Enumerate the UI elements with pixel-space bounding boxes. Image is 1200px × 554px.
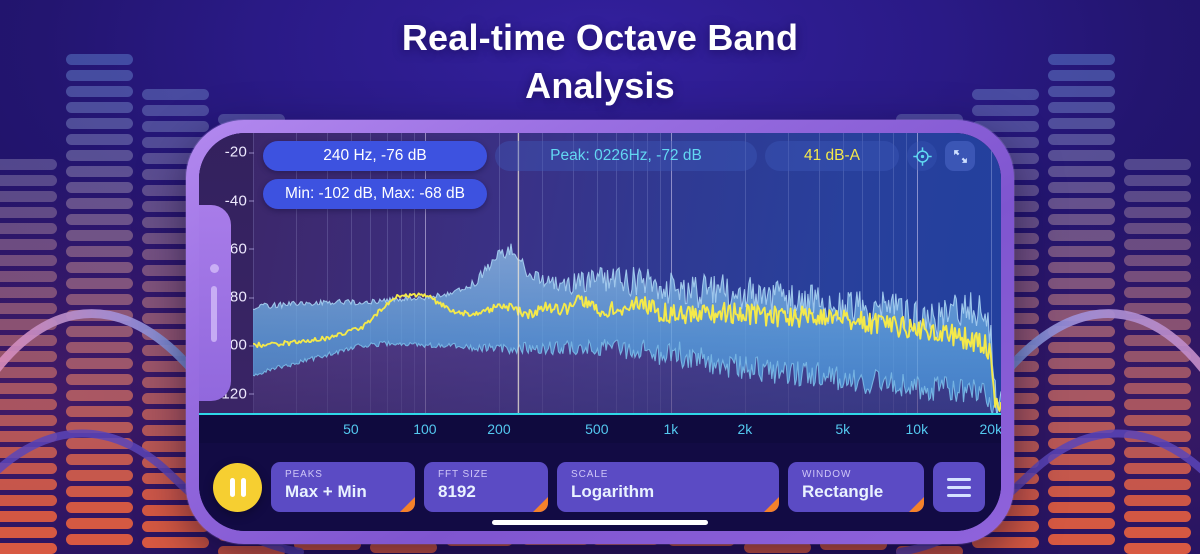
x-axis-tick-label: 20k — [980, 421, 1001, 437]
x-axis-tick-label: 100 — [413, 421, 436, 437]
peaks-setting-label: PEAKS — [285, 469, 401, 480]
x-axis-tick-label: 5k — [835, 421, 850, 437]
control-bar: PEAKS Max + Min FFT SIZE 8192 SCALE Loga… — [199, 443, 1001, 531]
y-axis-tick-label: -20 — [225, 144, 247, 161]
x-axis-tick-label: 200 — [487, 421, 510, 437]
speaker-grille-icon — [211, 286, 217, 342]
plot-area[interactable]: 240 Hz, -76 dB Min: -102 dB, Max: -68 dB… — [253, 133, 1001, 413]
pause-icon — [241, 478, 246, 497]
y-axis-tick-label: -40 — [225, 192, 247, 209]
peak-readout-badge[interactable]: Peak: 0226Hz, -72 dB — [495, 141, 757, 171]
min-max-readout-badge[interactable]: Min: -102 dB, Max: -68 dB — [263, 179, 487, 209]
page-title-line-1: Real-time Octave Band — [0, 14, 1200, 62]
window-setting-label: WINDOW — [802, 469, 910, 480]
x-axis-tick-label: 2k — [737, 421, 752, 437]
crosshair-target-icon[interactable] — [907, 141, 937, 171]
hamburger-menu-icon[interactable] — [933, 462, 985, 512]
scale-setting-value: Logarithm — [571, 482, 765, 502]
phone-screen: -20-40-60-80-100-120 240 Hz, -76 dB Min:… — [199, 133, 1001, 531]
menu-line — [947, 478, 971, 481]
phone-notch-rail — [199, 205, 231, 401]
x-axis-gutter — [199, 415, 253, 443]
page-title: Real-time Octave Band Analysis — [0, 14, 1200, 109]
window-setting-card[interactable]: WINDOW Rectangle — [788, 462, 924, 512]
x-axis-tick-label: 10k — [905, 421, 928, 437]
x-axis-tick-label: 50 — [343, 421, 359, 437]
corner-marker-icon — [909, 497, 924, 512]
window-setting-value: Rectangle — [802, 482, 910, 502]
pause-icon — [230, 478, 235, 497]
phone-mockup: -20-40-60-80-100-120 240 Hz, -76 dB Min:… — [186, 120, 1014, 544]
page-title-line-2: Analysis — [0, 62, 1200, 110]
scale-setting-label: SCALE — [571, 469, 765, 480]
peaks-setting-card[interactable]: PEAKS Max + Min — [271, 462, 415, 512]
spectrum-analyzer-chart[interactable]: -20-40-60-80-100-120 240 Hz, -76 dB Min:… — [199, 133, 1001, 413]
x-axis-tick-label: 500 — [585, 421, 608, 437]
cursor-readout-badge[interactable]: 240 Hz, -76 dB — [263, 141, 487, 171]
x-axis: 501002005001k2k5k10k20k — [199, 413, 1001, 443]
readout-badges-left: 240 Hz, -76 dB Min: -102 dB, Max: -68 dB — [263, 141, 487, 209]
collapse-diagonal-icon[interactable] — [945, 141, 975, 171]
fft-size-setting-card[interactable]: FFT SIZE 8192 — [424, 462, 548, 512]
corner-marker-icon — [533, 497, 548, 512]
pause-button[interactable] — [213, 463, 262, 512]
menu-line — [947, 494, 971, 497]
corner-marker-icon — [400, 497, 415, 512]
menu-line — [947, 486, 971, 489]
fft-size-setting-label: FFT SIZE — [438, 469, 534, 480]
x-axis-tick-label: 1k — [663, 421, 678, 437]
fft-size-setting-value: 8192 — [438, 482, 534, 502]
readout-badge-row: 240 Hz, -76 dB Min: -102 dB, Max: -68 dB… — [263, 141, 993, 209]
scale-setting-card[interactable]: SCALE Logarithm — [557, 462, 779, 512]
corner-marker-icon — [764, 497, 779, 512]
peaks-setting-value: Max + Min — [285, 482, 401, 502]
camera-icon — [210, 264, 219, 273]
home-indicator[interactable] — [492, 520, 708, 525]
dba-readout-badge[interactable]: 41 dB-A — [765, 141, 899, 171]
